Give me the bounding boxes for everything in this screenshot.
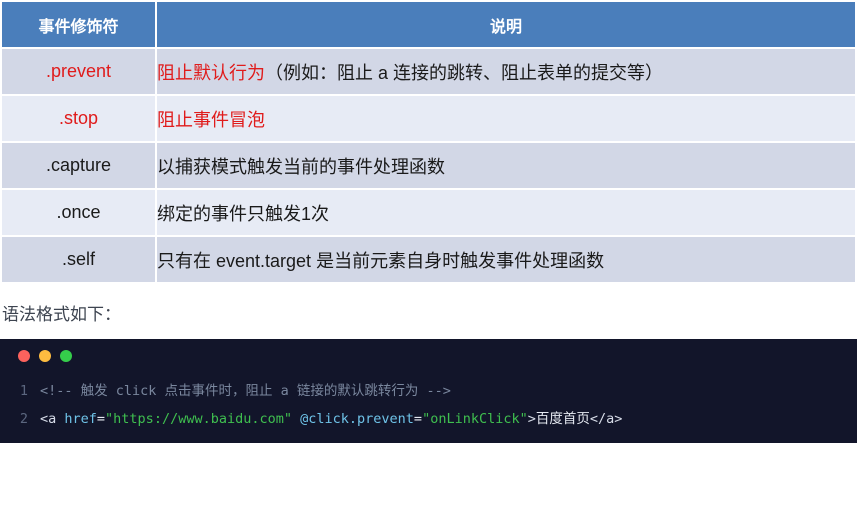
syntax-caption: 语法格式如下：: [0, 284, 857, 339]
description-rest: （例如：阻止 a 连接的跳转、阻止表单的提交等）: [265, 63, 663, 83]
cell-description: 以捕获模式触发当前的事件处理函数: [156, 142, 856, 189]
code-token-attr-click-prevent: @click.prevent: [300, 411, 414, 427]
code-window-titlebar: [0, 339, 857, 373]
cell-description: 阻止事件冒泡: [156, 95, 856, 142]
table-head: 事件修饰符 说明: [1, 1, 856, 48]
code-token-tag-close: </a>: [590, 411, 623, 427]
code-token-inner-text: 百度首页: [536, 411, 590, 427]
table-body: .prevent 阻止默认行为（例如：阻止 a 连接的跳转、阻止表单的提交等） …: [1, 48, 856, 283]
cell-description: 只有在 event.target 是当前元素自身时触发事件处理函数: [156, 236, 856, 283]
cell-modifier: .prevent: [1, 48, 156, 95]
window-minimize-dot-icon[interactable]: [39, 350, 51, 362]
code-content[interactable]: 1 <!-- 触发 click 点击事件时，阻止 a 链接的默认跳转行为 -->…: [0, 373, 857, 433]
table-row: .prevent 阻止默认行为（例如：阻止 a 连接的跳转、阻止表单的提交等）: [1, 48, 856, 95]
column-header-modifier: 事件修饰符: [1, 1, 156, 48]
description-rest: 绑定的事件只触发1次: [157, 204, 329, 224]
cell-modifier: .stop: [1, 95, 156, 142]
table-row: .stop 阻止事件冒泡: [1, 95, 856, 142]
code-source: <a href="https://www.baidu.com" @click.p…: [40, 405, 622, 433]
line-number: 1: [0, 377, 40, 405]
cell-modifier: .capture: [1, 142, 156, 189]
event-modifier-table: 事件修饰符 说明 .prevent 阻止默认行为（例如：阻止 a 连接的跳转、阻…: [0, 0, 857, 284]
description-rest: 以捕获模式触发当前的事件处理函数: [157, 157, 445, 177]
table-row: .capture 以捕获模式触发当前的事件处理函数: [1, 142, 856, 189]
description-rest: 只有在 event.target 是当前元素自身时触发事件处理函数: [157, 251, 604, 271]
code-token-space: [292, 411, 300, 427]
cell-modifier: .self: [1, 236, 156, 283]
code-comment: <!-- 触发 click 点击事件时，阻止 a 链接的默认跳转行为 -->: [40, 377, 451, 405]
cell-modifier: .once: [1, 189, 156, 236]
description-highlight: 阻止默认行为: [157, 63, 265, 83]
column-header-description: 说明: [156, 1, 856, 48]
code-line: 1 <!-- 触发 click 点击事件时，阻止 a 链接的默认跳转行为 -->: [0, 377, 857, 405]
code-token-equals: =: [97, 411, 105, 427]
description-highlight: 阻止事件冒泡: [157, 110, 265, 130]
code-line: 2 <a href="https://www.baidu.com" @click…: [0, 405, 857, 433]
code-token-attr-href: href: [64, 411, 97, 427]
code-token-url-string: "https://www.baidu.com": [105, 411, 292, 427]
window-close-dot-icon[interactable]: [18, 350, 30, 362]
table-row: .self 只有在 event.target 是当前元素自身时触发事件处理函数: [1, 236, 856, 283]
table-header-row: 事件修饰符 说明: [1, 1, 856, 48]
event-modifier-table-wrapper: 事件修饰符 说明 .prevent 阻止默认行为（例如：阻止 a 连接的跳转、阻…: [0, 0, 857, 284]
code-token-handler-string: "onLinkClick": [422, 411, 528, 427]
code-token-gt: >: [528, 411, 536, 427]
line-number: 2: [0, 405, 40, 433]
window-maximize-dot-icon[interactable]: [60, 350, 72, 362]
code-token-tag-open: <a: [40, 411, 64, 427]
table-row: .once 绑定的事件只触发1次: [1, 189, 856, 236]
cell-description: 绑定的事件只触发1次: [156, 189, 856, 236]
code-block: 1 <!-- 触发 click 点击事件时，阻止 a 链接的默认跳转行为 -->…: [0, 339, 857, 443]
cell-description: 阻止默认行为（例如：阻止 a 连接的跳转、阻止表单的提交等）: [156, 48, 856, 95]
code-token-equals: =: [414, 411, 422, 427]
